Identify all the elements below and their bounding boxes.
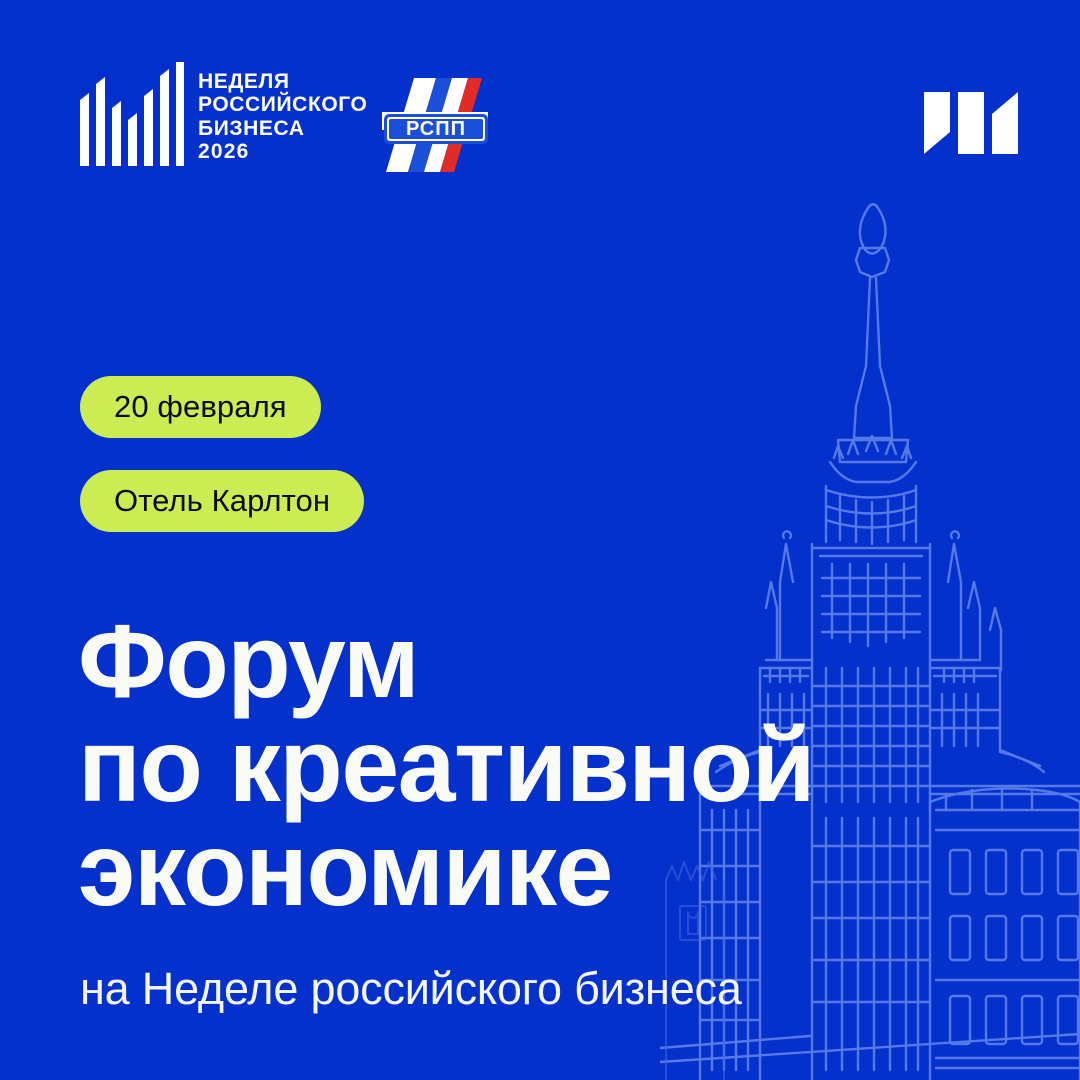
nrb-logo-text: НЕДЕЛЯ РОССИЙСКОГО БИЗНЕСА 2026 <box>198 70 367 166</box>
rspp-logo-icon: РСПП <box>378 68 496 180</box>
date-badge-row: 20 февраля <box>80 376 364 438</box>
page-title: Форум по креативной экономике <box>78 610 878 922</box>
poster-canvas: НЕДЕЛЯ РОССИЙСКОГО БИЗНЕСА 2026 <box>0 0 1080 1080</box>
badge-group: 20 февраля Отель Карлтон <box>80 376 364 532</box>
date-badge[interactable]: 20 февраля <box>80 376 321 438</box>
nrb-line-1: НЕДЕЛЯ <box>198 70 367 94</box>
nrb-line-3: БИЗНЕСА <box>198 117 367 141</box>
nrb-line-2: РОССИЙСКОГО <box>198 93 367 117</box>
venue-badge-row: Отель Карлтон <box>80 470 364 532</box>
venue-badge[interactable]: Отель Карлтон <box>80 470 364 532</box>
poster-header: НЕДЕЛЯ РОССИЙСКОГО БИЗНЕСА 2026 <box>0 0 1080 230</box>
svg-text:РСПП: РСПП <box>406 118 466 140</box>
headline-line-1: Форум <box>78 610 878 714</box>
headline-line-3: экономике <box>78 818 878 922</box>
w-monogram-icon <box>924 92 1018 154</box>
nrb-logo: НЕДЕЛЯ РОССИЙСКОГО БИЗНЕСА 2026 <box>80 62 367 166</box>
headline-line-2: по креативной <box>78 714 878 818</box>
rising-bars-icon <box>80 62 184 166</box>
nrb-year: 2026 <box>198 140 367 164</box>
page-subtitle: на Неделе российского бизнеса <box>80 963 742 1015</box>
